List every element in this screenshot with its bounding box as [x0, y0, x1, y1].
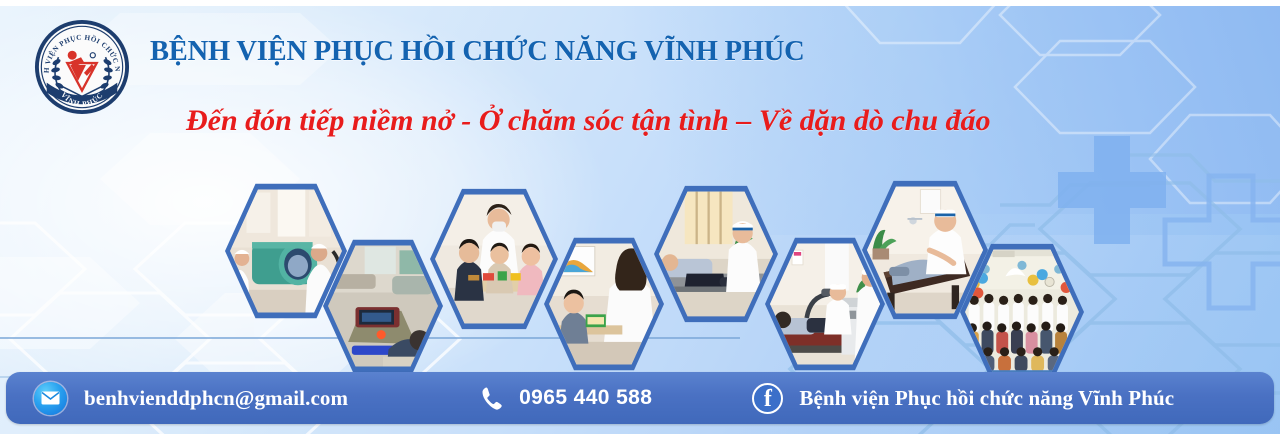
slogan-text: Đến đón tiếp niềm nở - Ở chăm sóc tận tì… — [186, 104, 991, 138]
facebook-icon: f — [752, 383, 783, 414]
top-white-strip — [0, 0, 1280, 6]
email-text: benhvienddphcn@gmail.com — [84, 386, 348, 411]
phone-contact[interactable]: 0965 440 588 — [479, 372, 652, 424]
email-contact[interactable]: benhvienddphcn@gmail.com — [34, 372, 348, 424]
facebook-contact[interactable]: f Bệnh viện Phục hồi chức năng Vĩnh Phúc — [752, 372, 1174, 424]
gallery-hex-4 — [544, 235, 664, 373]
phone-icon — [479, 385, 506, 412]
envelope-icon — [34, 382, 67, 415]
gallery-hex-5 — [654, 183, 778, 325]
page-title: BỆNH VIỆN PHỤC HỒI CHỨC NĂNG VĨNH PHÚC — [150, 36, 805, 68]
hospital-logo: BỆNH VIỆN PHỤC HỒI CHỨC NĂNG — [33, 18, 131, 116]
phone-text: 0965 440 588 — [519, 386, 652, 410]
contact-bar: benhvienddphcn@gmail.com 0965 440 588 f … — [6, 372, 1274, 424]
facebook-page-text: Bệnh viện Phục hồi chức năng Vĩnh Phúc — [799, 386, 1174, 411]
facebook-glyph: f — [764, 387, 772, 411]
hospital-banner: BỆNH VIỆN PHỤC HỒI CHỨC NĂNG — [0, 0, 1280, 434]
gallery-hex-3 — [430, 186, 558, 332]
